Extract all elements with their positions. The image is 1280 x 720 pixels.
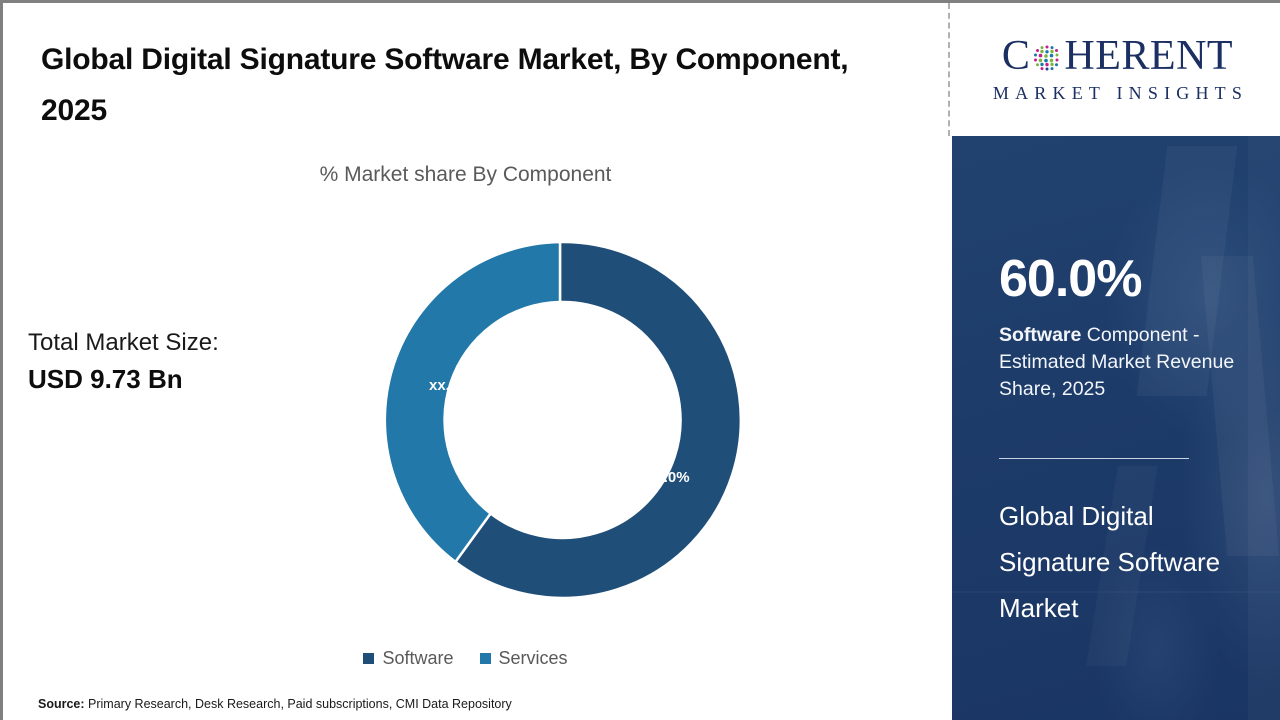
logo-letters-herent: HERENT	[1064, 35, 1233, 77]
donut-chart-svg: xx.x% 60.0%	[374, 234, 746, 606]
highlight-panel-content: 60.0% Software Component - Estimated Mar…	[999, 136, 1249, 720]
logo-letter-c: C	[1002, 35, 1031, 77]
highlight-stat-description-bold: Software	[999, 324, 1081, 346]
highlight-panel: 60.0% Software Component - Estimated Mar…	[952, 136, 1280, 720]
total-market-size-label: Total Market Size:	[28, 326, 328, 361]
chart-subtitle: % Market share By Component	[3, 163, 928, 187]
legend-swatch-software	[363, 653, 374, 664]
source-note-prefix: Source:	[38, 697, 85, 711]
highlight-stat-description: Software Component - Estimated Market Re…	[999, 322, 1235, 403]
chart-legend: Software Services	[3, 648, 928, 669]
legend-label-software: Software	[382, 648, 453, 669]
logo-tagline: MARKET INSIGHTS	[987, 83, 1248, 104]
divider-rule	[999, 458, 1189, 459]
logo-wordmark: C	[1002, 35, 1233, 77]
highlight-market-name: Global Digital Signature Software Market	[999, 494, 1235, 631]
chart-panel: Global Digital Signature Software Market…	[3, 3, 948, 720]
globe-dots-icon	[1031, 42, 1063, 74]
infographic-canvas: Global Digital Signature Software Market…	[0, 0, 1280, 720]
source-note: Source: Primary Research, Desk Research,…	[38, 697, 512, 711]
donut-label-services: xx.x%	[429, 377, 472, 394]
page-title: Global Digital Signature Software Market…	[41, 34, 881, 136]
legend-swatch-services	[480, 653, 491, 664]
total-market-size-block: Total Market Size: USD 9.73 Bn	[28, 326, 328, 398]
brand-logo: C	[952, 3, 1280, 136]
total-market-size-value: USD 9.73 Bn	[28, 361, 328, 399]
panel-texture-shape	[1248, 136, 1280, 720]
sidebar-panel: C	[952, 3, 1280, 720]
source-note-text: Primary Research, Desk Research, Paid su…	[85, 697, 512, 711]
donut-chart: xx.x% 60.0%	[374, 234, 746, 606]
legend-label-services: Services	[499, 648, 568, 669]
donut-label-software: 60.0%	[647, 469, 690, 486]
highlight-stat-value: 60.0%	[999, 253, 1141, 305]
legend-item-services[interactable]: Services	[480, 648, 568, 669]
legend-item-software[interactable]: Software	[363, 648, 453, 669]
panel-divider	[948, 3, 950, 136]
donut-slice-services[interactable]	[385, 242, 560, 562]
